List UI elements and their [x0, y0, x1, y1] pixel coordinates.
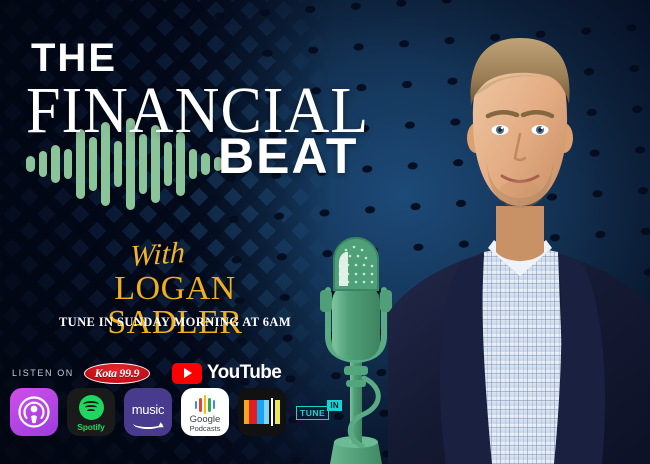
- iheartradio-bar: [275, 400, 280, 424]
- spotify-glyph: [79, 395, 104, 420]
- waveform-bar: [114, 141, 123, 187]
- iheartradio-bar: [249, 400, 257, 424]
- waveform-bar: [189, 149, 198, 179]
- amazon-music-label: music: [132, 402, 164, 417]
- google-podcasts-bar: [204, 395, 207, 414]
- youtube-play-icon: [172, 363, 202, 384]
- google-podcasts-label: Google Podcasts: [190, 415, 221, 433]
- waveform-bar: [64, 149, 73, 179]
- google-podcasts-glyph: [195, 395, 216, 414]
- spotify-label: Spotify: [77, 422, 104, 432]
- waveform-bar: [26, 156, 35, 172]
- amazon-music-icon[interactable]: music: [124, 388, 172, 436]
- host-portrait-photo: [388, 0, 650, 464]
- waveform-bar: [39, 151, 48, 177]
- title-beat: BEAT: [218, 131, 358, 181]
- waveform-bar: [51, 145, 60, 183]
- kota-radio-logo[interactable]: Kota 99.9: [84, 363, 150, 384]
- iheartradio-glyph: [244, 400, 280, 424]
- platform-icon-row: Spotify music Google Podcasts TUNE IN: [10, 388, 343, 436]
- title-the: THE: [31, 38, 117, 78]
- spotify-icon[interactable]: Spotify: [67, 388, 115, 436]
- waveform-bar: [201, 153, 210, 175]
- with-label: With: [130, 238, 186, 272]
- iheartradio-bar: [271, 398, 273, 426]
- youtube-logo[interactable]: YouTube: [172, 362, 281, 384]
- iheartradio-icon[interactable]: [238, 388, 286, 436]
- kota-radio-label: Kota 99.9: [95, 366, 140, 381]
- listen-on-row: LISTEN ON Kota 99.9 YouTube: [12, 362, 281, 384]
- iheartradio-bar: [264, 400, 269, 424]
- amazon-smile-icon: [133, 418, 163, 429]
- google-podcasts-label-bottom: Podcasts: [190, 425, 221, 433]
- apple-podcasts-icon[interactable]: [10, 388, 58, 436]
- google-podcasts-bar: [195, 401, 198, 409]
- youtube-label: YouTube: [207, 362, 281, 384]
- google-podcasts-bar: [213, 400, 216, 409]
- podcast-poster: THE FINANCIAL BEAT: [0, 0, 650, 464]
- listen-on-label: LISTEN ON: [12, 368, 74, 378]
- google-podcasts-bar: [199, 398, 202, 412]
- tune-in-message: TUNE IN SUNDAY MORNING AT 6AM: [44, 316, 306, 329]
- iheartradio-bar: [257, 400, 264, 424]
- waveform-bar: [164, 142, 173, 186]
- google-podcasts-icon[interactable]: Google Podcasts: [181, 388, 229, 436]
- host-name: LOGAN SADLER: [44, 272, 306, 340]
- google-podcasts-bar: [208, 398, 211, 412]
